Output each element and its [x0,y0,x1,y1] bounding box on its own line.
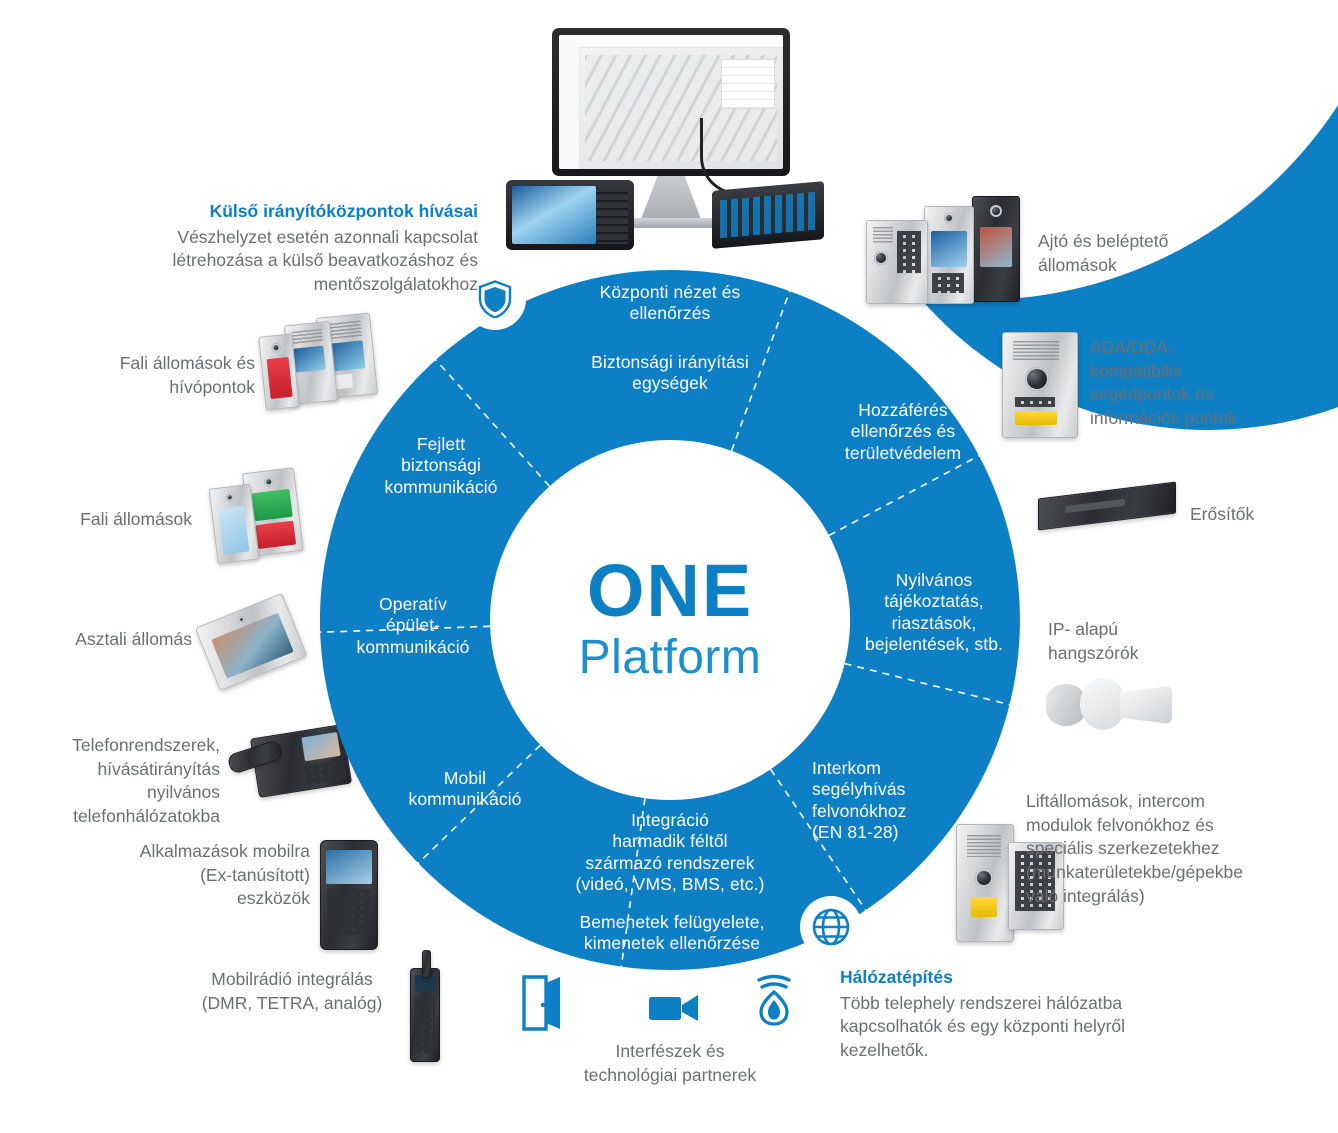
label-interfaces-partners: Interfészek és technológiai partnerek [545,1040,795,1087]
label-wall-stations-call-points: Fali állomások és hívópontok [40,352,255,399]
callout-networking-heading: Hálózatépítés [840,966,1220,990]
fire-detector-icon [753,972,795,1031]
callout-networking: Hálózatépítés Több telephely rendszerei … [840,966,1220,1063]
label-wall-stations: Fali állomások [12,508,192,532]
ring-segment-lift-intercom: Interkom segélyhívás felvonókhoz (EN 81-… [812,758,982,843]
label-telephone-systems: Telefonrendszerek, hívásátirányítás nyil… [20,734,220,829]
ring-segment-public-address: Nyilvános tájékoztatás, riasztások, beje… [836,570,1032,655]
callout-external-control-heading: Külső irányítóközpontok hívásai [118,200,478,224]
wall-station-sos-image [205,470,315,570]
label-desktop-station: Asztali állomás [12,628,192,652]
label-door-entry-stations: Ajtó és beléptető állomások [1038,230,1268,277]
callout-external-control: Külső irányítóközpontok hívásai Vészhely… [118,200,478,297]
callout-networking-body: Több telephely rendszerei hálózatba kapc… [840,993,1125,1060]
desktop-station-image [198,600,308,696]
ring-segment-advanced-security: Fejlett biztonsági kommunikáció [348,434,534,498]
ring-segment-mobile-comm: Mobil kommunikáció [370,768,560,811]
ring-segment-access-control: Hozzáférés ellenőrzés és területvédelem [808,400,998,464]
paging-console-image [712,181,824,249]
amplifier-rack-image [1038,484,1178,530]
label-mobile-radio: Mobilrádió integrálás (DMR, TETRA, analó… [182,968,402,1015]
ring-segment-io-monitoring: Bemenetek felügyelete, kimenetek ellenőr… [528,912,816,955]
ring-segment-operational-comm: Operatív épület- kommunikáció [318,594,508,658]
touch-control-panel-image [506,180,634,250]
label-amplifiers: Erősítők [1190,503,1330,527]
door-icon [520,975,564,1036]
video-camera-icon [648,992,700,1029]
ring-segment-third-party: Integráció harmadik féltől származó rend… [520,810,820,895]
label-lift-stations: Liftállomások, intercom modulok felvonók… [1026,790,1322,908]
label-mobile-apps: Alkalmazások mobilra (Ex-tanúsított) esz… [100,840,310,911]
globe-icon [811,907,851,947]
ring-segment-security-management: Biztonsági irányítási egységek [540,352,800,395]
callout-external-control-body: Vészhelyzet esetén azonnali kapcsolat lé… [173,227,478,294]
infographic-canvas: Központi nézet és ellenőrzés Biztonsági … [0,0,1338,1133]
label-ada-dda-points: ADA/DDA- kompatibilis segédpontok és inf… [1090,336,1320,431]
shield-icon [478,280,512,318]
label-ip-speakers: IP- alapú hangszórók [1048,618,1208,665]
globe-badge [800,896,862,958]
ip-speaker-image [1046,672,1182,744]
ring-segment-central-view: Központi nézet és ellenőrzés [540,282,800,325]
